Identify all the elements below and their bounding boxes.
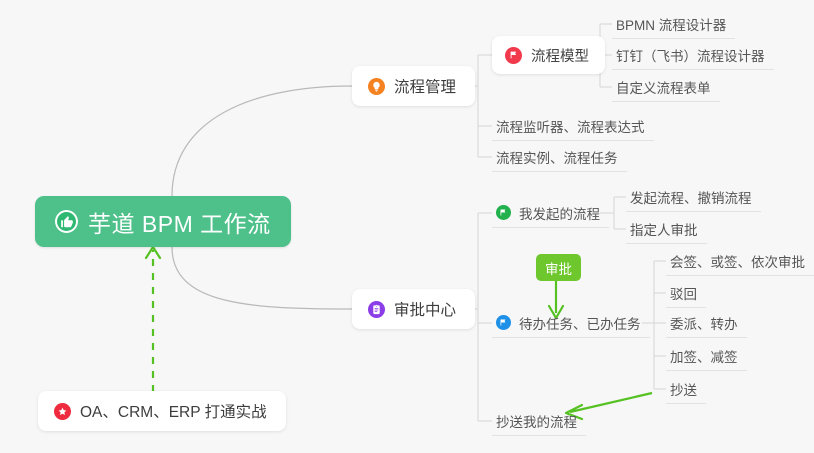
node-todo-done-tasks[interactable]: 待办任务、已办任务 xyxy=(492,308,650,338)
node-todo-done-tasks-label: 待办任务、已办任务 xyxy=(519,313,641,333)
leaf-custom-form[interactable]: 自定义流程表单 xyxy=(612,72,720,102)
approval-badge[interactable]: 审批 xyxy=(536,254,581,281)
leaf-bpmn-designer-label: BPMN 流程设计器 xyxy=(616,14,726,34)
star-icon xyxy=(54,403,71,420)
node-process-model[interactable]: 流程模型 xyxy=(492,36,605,74)
flag-blue-icon xyxy=(496,315,511,330)
leaf-add-remove-sign[interactable]: 加签、减签 xyxy=(666,341,747,371)
leaf-assignee-approval-label: 指定人审批 xyxy=(630,219,698,239)
leaf-custom-form-label: 自定义流程表单 xyxy=(616,77,711,97)
integration-card[interactable]: OA、CRM、ERP 打通实战 xyxy=(38,391,286,431)
leaf-cc-to-me-label: 抄送我的流程 xyxy=(496,411,577,431)
flag-red-icon xyxy=(505,47,522,64)
connector-root-to-approval-center xyxy=(172,247,352,309)
leaf-bpmn-designer[interactable]: BPMN 流程设计器 xyxy=(612,9,735,39)
node-my-initiated-label: 我发起的流程 xyxy=(519,203,600,223)
leaf-reject[interactable]: 驳回 xyxy=(666,278,706,308)
flag-green-icon xyxy=(496,205,511,220)
leaf-reject-label: 驳回 xyxy=(670,283,697,303)
leaf-instance-task-label: 流程实例、流程任务 xyxy=(496,147,618,167)
leaf-carbon-copy[interactable]: 抄送 xyxy=(666,374,706,404)
leaf-delegate-transfer-label: 委派、转办 xyxy=(670,313,738,333)
lightbulb-icon xyxy=(368,78,385,95)
mindmap-canvas: 芋道 BPM 工作流 流程管理 流程模型 BPMN 流程设计器 钉钉（飞书）流程… xyxy=(0,0,814,453)
leaf-cc-to-me[interactable]: 抄送我的流程 xyxy=(492,406,586,436)
node-process-model-label: 流程模型 xyxy=(531,45,589,66)
leaf-start-cancel-process[interactable]: 发起流程、撤销流程 xyxy=(626,182,761,212)
leaf-listener-expression[interactable]: 流程监听器、流程表达式 xyxy=(492,111,654,141)
leaf-carbon-copy-label: 抄送 xyxy=(670,379,697,399)
branch-approval-center[interactable]: 审批中心 xyxy=(352,289,475,329)
leaf-dingtalk-designer[interactable]: 钉钉（飞书）流程设计器 xyxy=(612,40,774,70)
clipboard-icon xyxy=(368,301,385,318)
leaf-add-remove-sign-label: 加签、减签 xyxy=(670,346,738,366)
branch-process-management[interactable]: 流程管理 xyxy=(352,66,475,106)
branch-process-management-label: 流程管理 xyxy=(394,75,456,97)
branch-approval-center-label: 审批中心 xyxy=(394,298,456,320)
node-my-initiated[interactable]: 我发起的流程 xyxy=(492,198,609,228)
leaf-delegate-transfer[interactable]: 委派、转办 xyxy=(666,308,747,338)
connector-root-to-process-management xyxy=(172,86,352,196)
leaf-listener-expression-label: 流程监听器、流程表达式 xyxy=(496,116,645,136)
leaf-start-cancel-process-label: 发起流程、撤销流程 xyxy=(630,187,752,207)
integration-card-label: OA、CRM、ERP 打通实战 xyxy=(80,400,267,422)
thumbs-up-icon xyxy=(55,210,78,233)
root-label: 芋道 BPM 工作流 xyxy=(88,205,271,239)
leaf-countersign[interactable]: 会签、或签、依次审批 xyxy=(666,246,814,276)
approval-badge-label: 审批 xyxy=(545,258,572,278)
leaf-assignee-approval[interactable]: 指定人审批 xyxy=(626,214,707,244)
arrowhead-integration-to-root xyxy=(146,247,160,258)
leaf-countersign-label: 会签、或签、依次审批 xyxy=(670,251,805,271)
root-node[interactable]: 芋道 BPM 工作流 xyxy=(35,196,291,247)
leaf-instance-task[interactable]: 流程实例、流程任务 xyxy=(492,142,627,172)
leaf-dingtalk-designer-label: 钉钉（飞书）流程设计器 xyxy=(616,45,765,65)
